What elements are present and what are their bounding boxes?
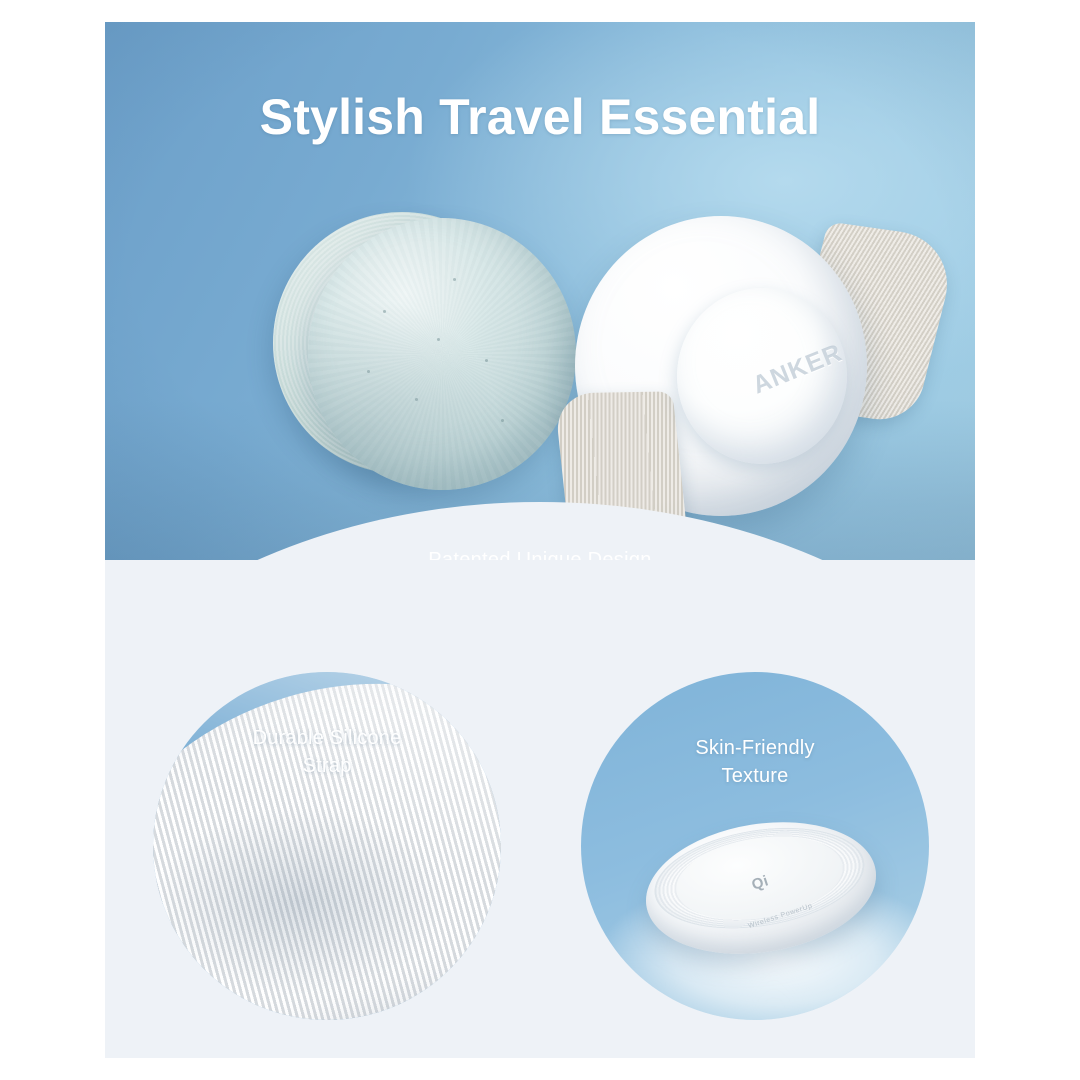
feature-card-skin-friendly-texture: Qi Wireless PowerUp Skin-Friendly Textur… xyxy=(581,672,929,1020)
hero-panel: ANKER Stylish Travel Essential Patented … xyxy=(105,22,975,590)
feature-label-line1: Durable Silicone xyxy=(153,724,501,752)
page-title: Stylish Travel Essential xyxy=(105,88,975,146)
feature-label-line2: Texture xyxy=(581,762,929,790)
feature-label-skin-friendly-texture: Skin-Friendly Texture xyxy=(581,734,929,790)
product-marketing-page: ANKER Stylish Travel Essential Patented … xyxy=(0,0,1080,1080)
feature-label-line1: Skin-Friendly xyxy=(581,734,929,762)
feature-label-line2: Strap xyxy=(153,752,501,780)
feature-card-silicone-strap: Durable Silicone Strap xyxy=(153,672,501,1020)
feature-label-silicone-strap: Durable Silicone Strap xyxy=(153,724,501,780)
features-panel: Durable Silicone Strap Qi Wireless Power… xyxy=(105,560,975,1058)
